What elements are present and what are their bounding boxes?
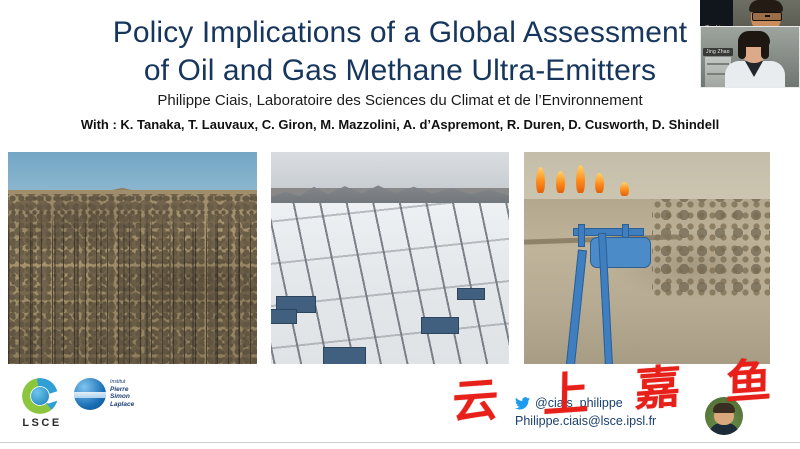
title-line-2: of Oil and Gas Methane Ultra-Emitters [0,52,800,90]
twitter-bird-icon [515,397,530,410]
ipsl-logo: Institut Pierre Simon Laplace [74,378,134,410]
ipsl-globe-band [74,392,106,398]
lsce-mark-icon [22,378,58,414]
ipsl-line-4: Laplace [110,401,134,408]
gas-flare-icon [576,165,585,193]
pipeline-network [271,203,509,364]
ipsl-wordmark: Institut Pierre Simon Laplace [110,378,134,408]
wellhead-module [323,347,365,364]
gas-flare-icon [556,171,565,193]
participant-hair-side [738,37,746,59]
presenter-avatar [705,397,743,435]
ipsl-line-1: Institut [110,379,134,386]
lsce-wordmark: LSCE [22,417,62,429]
ipsl-line-2: Pierre [110,386,134,393]
avatar-hair [713,403,735,413]
title-line-1: Policy Implications of a Global Assessme… [0,14,800,52]
equipment-speckle [8,194,257,364]
gas-flaring-site-photo [524,152,770,364]
slide-title: Policy Implications of a Global Assessme… [0,14,800,90]
participant-name-label: Jing Zhao [703,48,733,56]
participant-hair [749,0,783,12]
gas-flare-icon [620,182,629,196]
lsce-center-dot [31,387,49,405]
watermark-char-1: 云 [452,376,499,425]
webcam-overlay[interactable]: Zhu Lia Jing Zhao [700,0,800,88]
coauthor-list: With : K. Tanaka, T. Lauvaux, C. Giron, … [0,117,800,132]
oilfield-derricks-photo [8,152,257,364]
presentation-slide: Policy Implications of a Global Assessme… [0,0,800,449]
arctic-gas-field-photo [271,152,509,364]
ipsl-line-3: Simon [110,393,134,400]
wellhead-module [421,317,459,334]
participant-hair-side [761,37,769,59]
participant-video-tile[interactable] [700,26,800,88]
background-shelf-edge [707,63,729,65]
sky-region [271,152,509,188]
wellhead-module [271,309,297,324]
presenter-affiliation: Philippe Ciais, Laboratoire des Sciences… [0,92,800,109]
glasses-icon [752,12,782,21]
twitter-handle-text: @ciais_philippe [535,396,623,410]
ipsl-globe-icon [74,378,106,410]
blue-pipe-leg [578,224,585,247]
equipment-yard [652,199,770,301]
wellhead-module [457,288,485,301]
lsce-logo: LSCE [22,378,62,429]
